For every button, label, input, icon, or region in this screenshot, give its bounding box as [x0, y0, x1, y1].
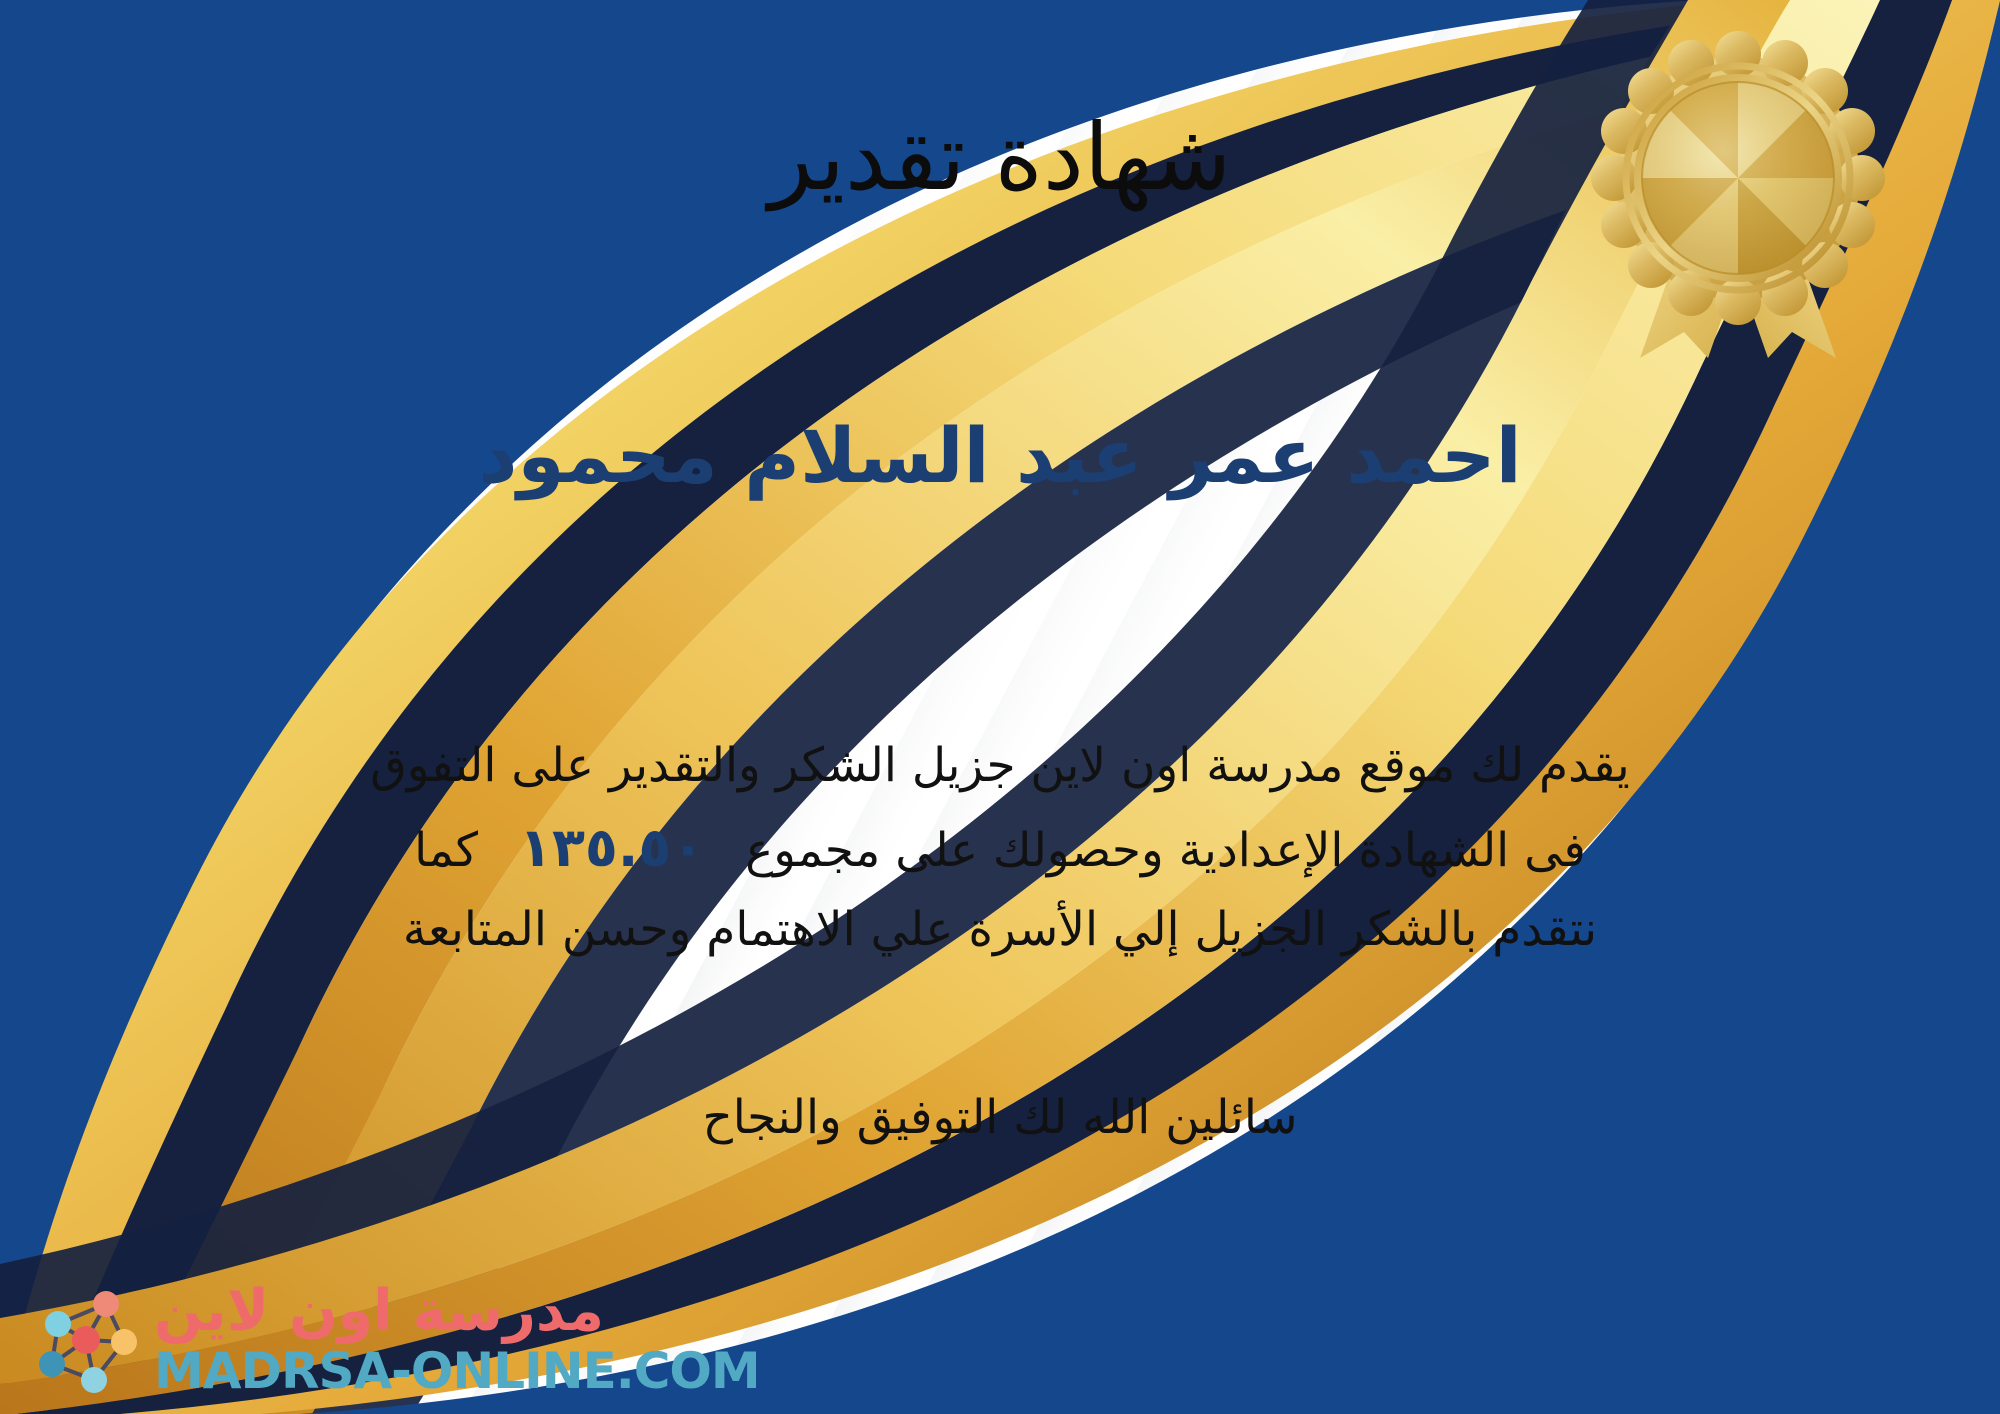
certificate-content: شهادة تقدير احمد عمر عبد السلام محمود يق…	[0, 0, 2000, 1414]
certificate-page: شهادة تقدير احمد عمر عبد السلام محمود يق…	[0, 0, 2000, 1414]
grade-total-value: ١٣٥.٥٠	[493, 816, 730, 879]
body-line-3: نتقدم بالشكر الجزيل إلي الأسرة علي الاهت…	[150, 892, 1850, 968]
closing-line: سائلين الله لك التوفيق والنجاح	[0, 1090, 2000, 1145]
brand-text-block: مدرسة اون لاين MADRSA-ONLINE.COM	[154, 1283, 760, 1396]
body-line-2-prefix: فى الشهادة الإعدادية وحصولك على مجموع	[745, 823, 1586, 878]
brand-website[interactable]: MADRSA-ONLINE.COM	[154, 1346, 760, 1396]
network-nodes-icon	[28, 1284, 140, 1396]
body-line-2: فى الشهادة الإعدادية وحصولك على مجموع ١٣…	[150, 804, 1850, 891]
brand-logo[interactable]: مدرسة اون لاين MADRSA-ONLINE.COM	[28, 1283, 760, 1396]
recipient-name: احمد عمر عبد السلام محمود	[0, 408, 2000, 503]
body-line-2-suffix: كما	[414, 823, 478, 878]
body-line-1: يقدم لك موقع مدرسة اون لاين جزيل الشكر و…	[150, 728, 1850, 804]
certificate-body: يقدم لك موقع مدرسة اون لاين جزيل الشكر و…	[150, 728, 1850, 968]
brand-arabic-name: مدرسة اون لاين	[154, 1283, 604, 1340]
page-title: شهادة تقدير	[0, 105, 2000, 211]
